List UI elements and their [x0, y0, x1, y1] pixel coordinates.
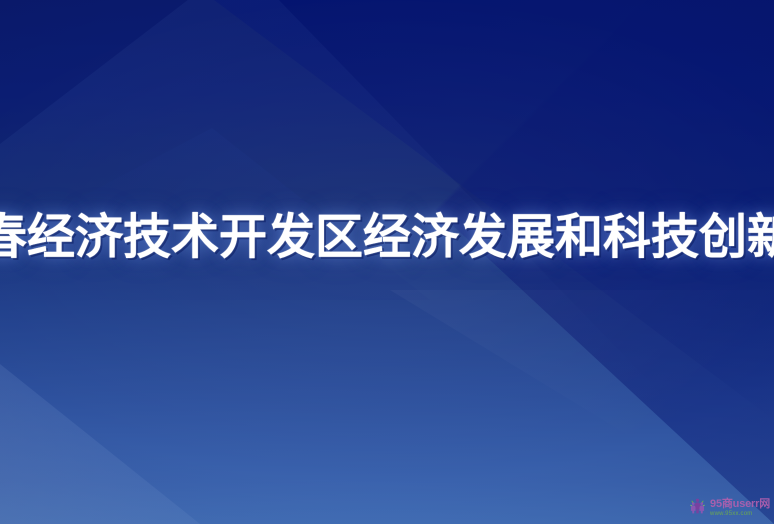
watermark: 95商userr网 www.95xx.com	[688, 496, 770, 520]
banner-title-container: 长春经济技术开发区经济发展和科技创新局	[0, 206, 774, 270]
leaf-people-logo-icon	[688, 496, 707, 520]
facet-center-crease	[240, 290, 774, 524]
page-title: 长春经济技术开发区经济发展和科技创新局	[0, 214, 774, 262]
watermark-text: 95商userr网 www.95xx.com	[710, 499, 770, 517]
page-banner: 长春经济技术开发区经济发展和科技创新局 95商userr网 www.95xx.c…	[0, 0, 774, 524]
facet-bottom-left-triangle	[0, 324, 320, 524]
watermark-name: 95商userr网	[710, 499, 770, 510]
watermark-url: www.95xx.com	[710, 511, 770, 517]
